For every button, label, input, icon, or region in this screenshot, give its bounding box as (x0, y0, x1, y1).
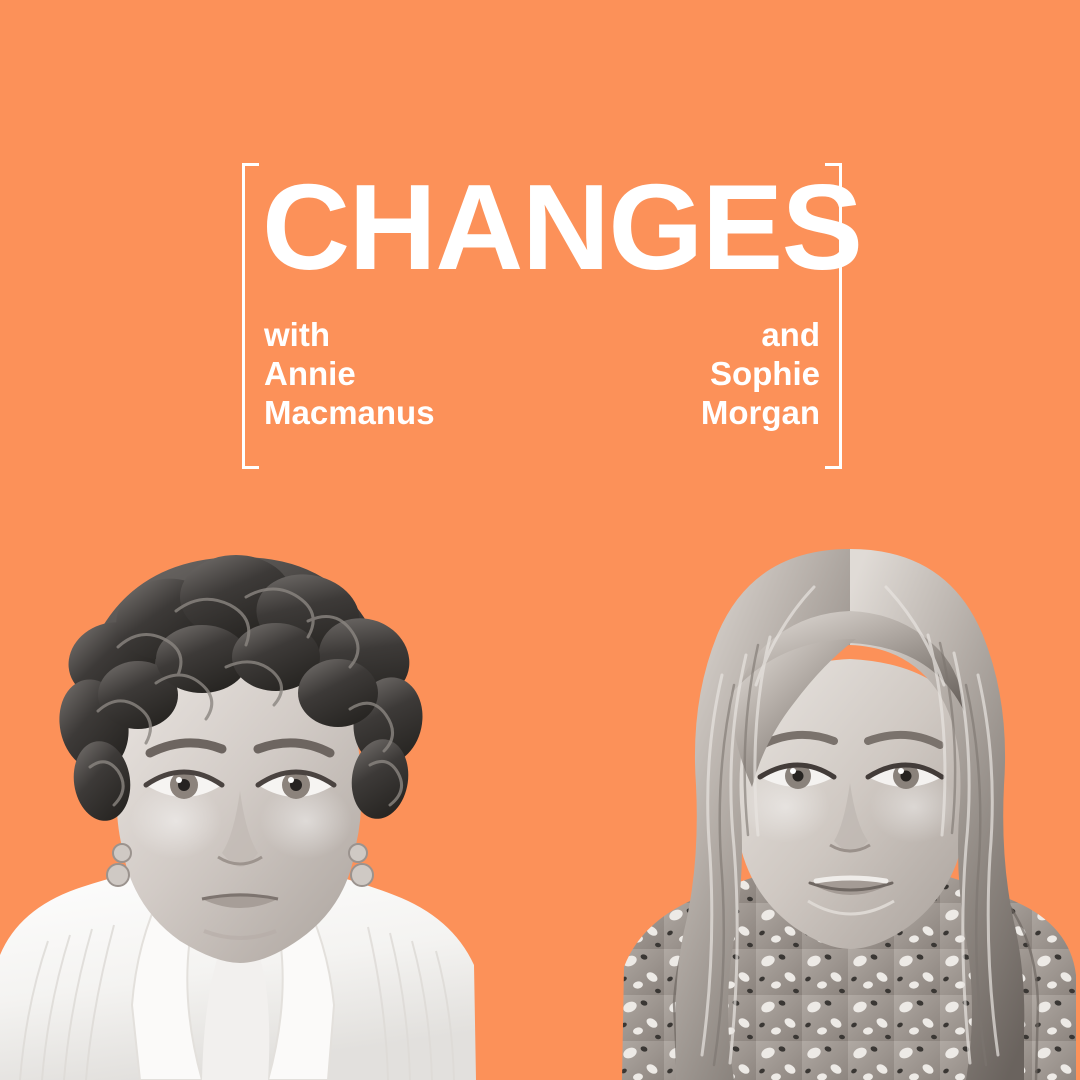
credit-sophie-morgan: and Sophie Morgan (701, 315, 820, 432)
bracket-left-top-arm (242, 163, 259, 166)
bracket-left-bottom-arm (242, 466, 259, 469)
annie-macmanus-portrait (0, 535, 490, 1080)
page-title: CHANGES (262, 175, 822, 280)
credit-right-line-2: Sophie (701, 354, 820, 393)
credit-right-line-1: and (701, 315, 820, 354)
credit-left-line-3: Macmanus (264, 393, 435, 432)
credit-annie-macmanus: with Annie Macmanus (264, 315, 435, 432)
title-lockup: CHANGES with Annie Macmanus and Sophie M… (242, 163, 842, 469)
sophie-morgan-portrait (618, 535, 1080, 1080)
credits-row: with Annie Macmanus and Sophie Morgan (264, 315, 820, 432)
podcast-cover-art: CHANGES with Annie Macmanus and Sophie M… (0, 0, 1080, 1080)
bracket-right-bottom-arm (825, 466, 842, 469)
bracket-left-icon (242, 163, 259, 469)
credit-right-line-3: Morgan (701, 393, 820, 432)
credit-left-line-2: Annie (264, 354, 435, 393)
credit-left-line-1: with (264, 315, 435, 354)
